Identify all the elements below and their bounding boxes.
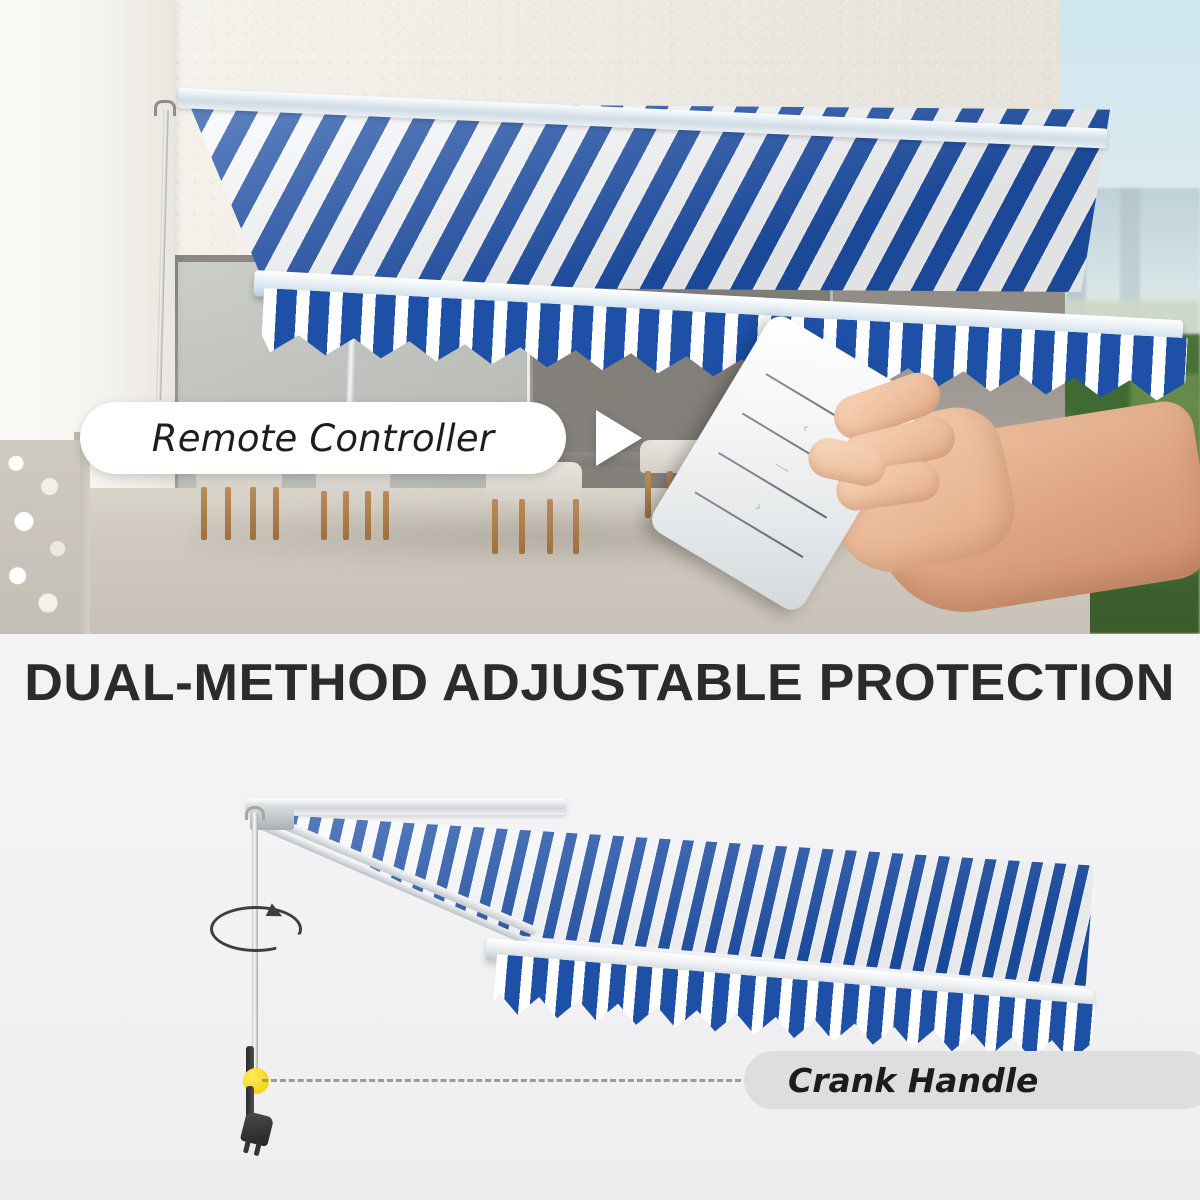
crank-handle-callout[interactable]: Crank Handle bbox=[744, 1051, 1200, 1109]
crank-handle-label: Crank Handle bbox=[788, 1061, 1038, 1100]
patio-awning-photo: ‹ — › Remote Controller bbox=[0, 0, 1200, 634]
callout-connector-line bbox=[262, 1079, 750, 1082]
chevron-up-icon[interactable]: ‹ bbox=[791, 415, 820, 440]
page-title: DUAL-METHOD ADJUSTABLE PROTECTION bbox=[25, 653, 1176, 713]
play-triangle-right-icon bbox=[596, 410, 642, 466]
hand-holding-remote: ‹ — › bbox=[690, 330, 1200, 634]
white-gravel-bed bbox=[0, 440, 80, 634]
headline-band: DUAL-METHOD ADJUSTABLE PROTECTION bbox=[0, 634, 1200, 732]
chair-legs bbox=[490, 499, 578, 554]
stop-dash-icon[interactable]: — bbox=[767, 455, 796, 480]
product-feature-page: ‹ — › Remote Controller DUAL-METHOD ADJU… bbox=[0, 0, 1200, 1200]
remote-controller-label: Remote Controller bbox=[152, 417, 494, 460]
retractable-awning-top bbox=[150, 88, 1150, 328]
chair-legs bbox=[319, 491, 387, 540]
chevron-down-icon[interactable]: › bbox=[744, 494, 773, 519]
remote-controller-callout[interactable]: Remote Controller bbox=[80, 402, 566, 474]
retractable-awning-diagram bbox=[246, 796, 1106, 1046]
chair-legs bbox=[199, 487, 278, 540]
patio-chair bbox=[486, 462, 582, 554]
awning-head-bar bbox=[246, 798, 566, 815]
awning-crank-diagram bbox=[0, 732, 1200, 1200]
